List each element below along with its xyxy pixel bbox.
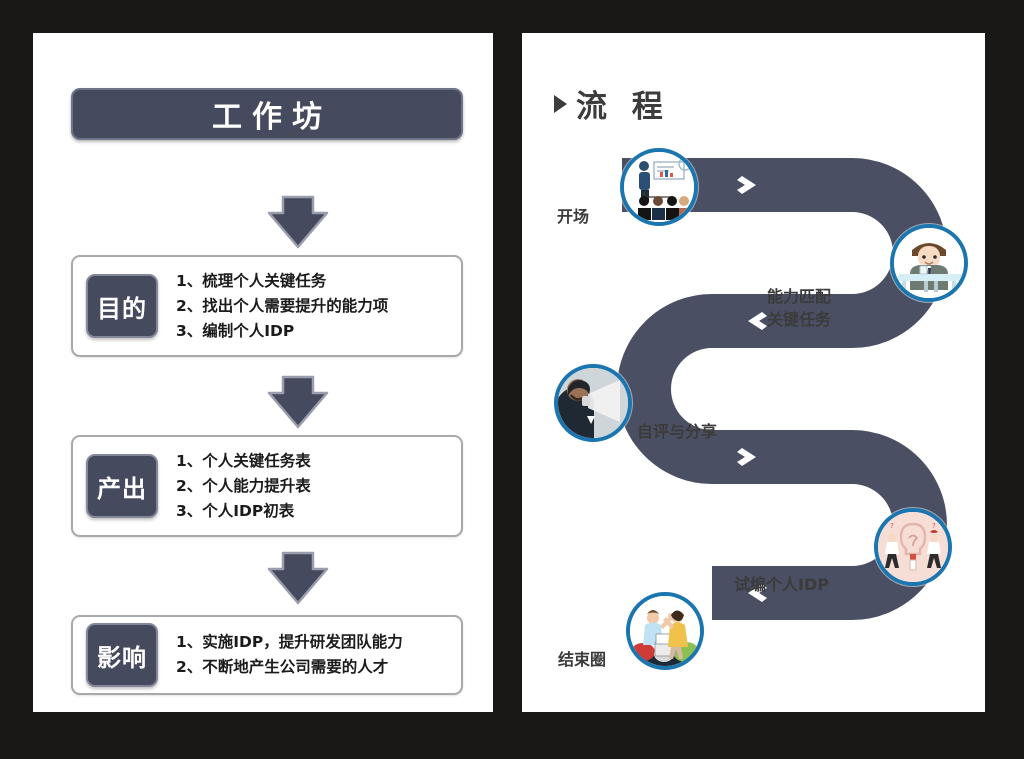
- megaphone-speaker-icon: [554, 364, 632, 442]
- section-tag-impact: 影响: [86, 623, 158, 687]
- node-label-self-review: 自评与分享: [637, 420, 717, 443]
- section-tag-purpose: 目的: [86, 274, 158, 338]
- list-item: 3、编制个人IDP: [176, 319, 388, 344]
- node-label-capability-match: 能力匹配 关键任务: [767, 285, 831, 331]
- section-lines-output: 1、个人关键任务表 2、个人能力提升表 3、个人IDP初表: [176, 445, 311, 528]
- node-label-opening: 开场: [557, 205, 589, 228]
- svg-text:?: ?: [932, 522, 936, 530]
- workshop-title-text: 工作坊: [202, 92, 332, 136]
- list-item: 2、找出个人需要提升的能力项: [176, 294, 388, 319]
- arrow-down-icon: [261, 193, 335, 253]
- section-row-purpose: 目的 1、梳理个人关键任务 2、找出个人需要提升的能力项 3、编制个人IDP: [71, 255, 463, 357]
- workshop-title-banner: 工作坊: [71, 88, 463, 140]
- person-at-desk-icon: [890, 224, 968, 302]
- team-celebration-icon: [626, 592, 704, 670]
- list-item: 1、个人关键任务表: [176, 449, 311, 474]
- node-label-line: 关键任务: [767, 308, 831, 331]
- arrow-down-icon: [261, 373, 335, 433]
- list-item: 1、梳理个人关键任务: [176, 269, 388, 294]
- list-item: 2、不断地产生公司需要的人才: [176, 655, 403, 680]
- list-item: 2、个人能力提升表: [176, 474, 311, 499]
- poster-canvas: 工作坊 目的 1、梳理个人关键任务 2、找出个人需要提升的能力项 3、编制个人I…: [0, 0, 1024, 759]
- section-tag-label: 目的: [97, 289, 147, 324]
- svg-text:?: ?: [890, 522, 894, 530]
- node-label-closing-circle: 结束圈: [558, 648, 606, 671]
- section-tag-label: 产出: [97, 469, 147, 504]
- section-tag-output: 产出: [86, 454, 158, 518]
- list-item: 3、个人IDP初表: [176, 499, 311, 524]
- lightbulb-team-icon: ? ?: [874, 508, 952, 586]
- section-tag-label: 影响: [97, 638, 147, 673]
- section-row-impact: 影响 1、实施IDP，提升研发团队能力 2、不断地产生公司需要的人才: [71, 615, 463, 695]
- presentation-meeting-icon: [620, 148, 698, 226]
- watermark-bar: 昵享网 www.nipic.cn ID:34824887 NO:20260227…: [0, 712, 1024, 759]
- node-label-line: 能力匹配: [767, 285, 831, 308]
- arrow-down-icon: [261, 549, 335, 609]
- node-label-draft-idp: 试编个人IDP: [734, 573, 829, 596]
- list-item: 1、实施IDP，提升研发团队能力: [176, 630, 403, 655]
- section-row-output: 产出 1、个人关键任务表 2、个人能力提升表 3、个人IDP初表: [71, 435, 463, 537]
- left-panel: 工作坊 目的 1、梳理个人关键任务 2、找出个人需要提升的能力项 3、编制个人I…: [33, 33, 493, 712]
- section-lines-impact: 1、实施IDP，提升研发团队能力 2、不断地产生公司需要的人才: [176, 626, 403, 684]
- section-lines-purpose: 1、梳理个人关键任务 2、找出个人需要提升的能力项 3、编制个人IDP: [176, 265, 388, 348]
